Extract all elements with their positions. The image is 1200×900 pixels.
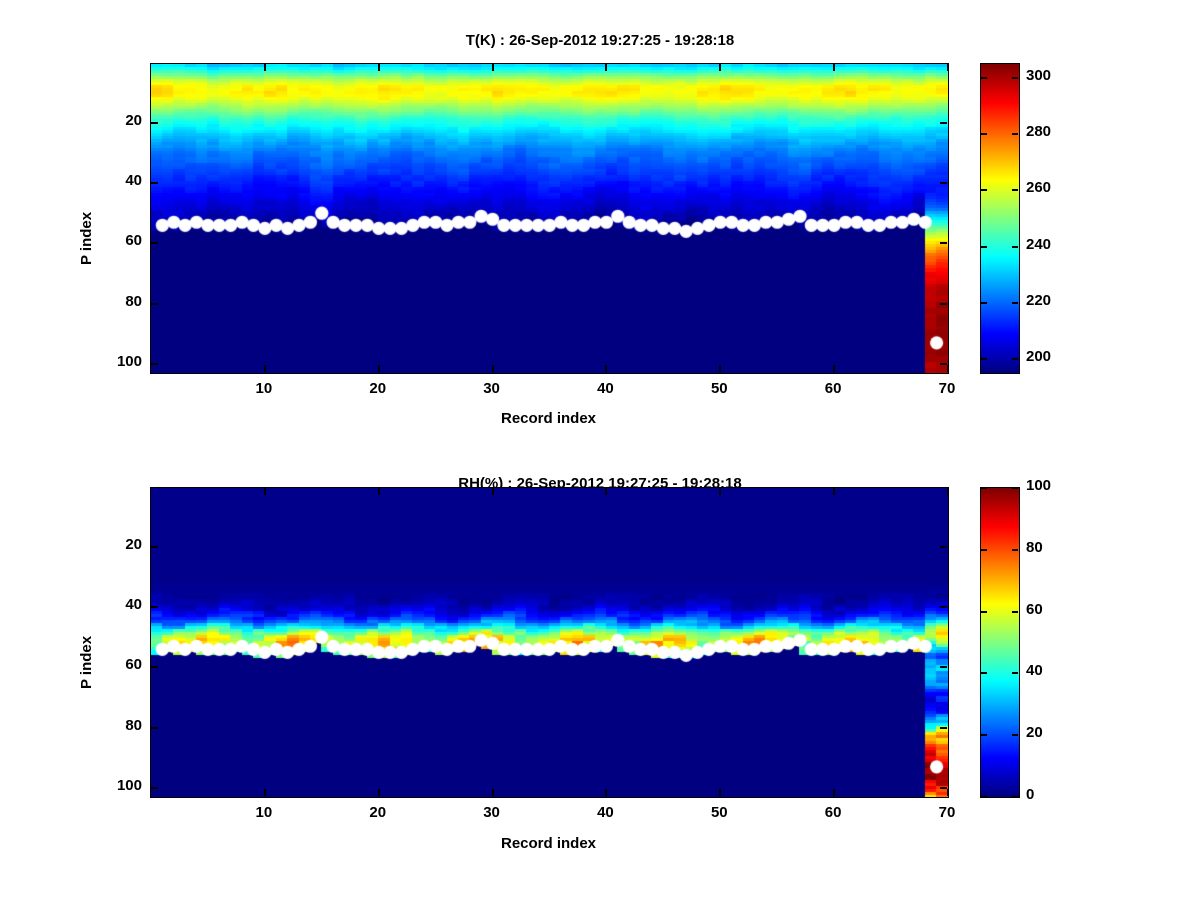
colorbar-tick-mark-right [1012, 358, 1018, 360]
xtick-mark [492, 789, 494, 796]
colorbar-tick-label: 240 [1026, 236, 1051, 253]
xtick-mark-top [492, 64, 494, 71]
colorbar-tick-label: 80 [1026, 539, 1043, 556]
panel-temperature-title: T(K) : 26-Sep-2012 19:27:25 - 19:28:18 [0, 32, 1200, 49]
colorbar-tick-mark-right [1012, 549, 1018, 551]
ytick-mark [151, 182, 158, 184]
xtick-mark-top [833, 64, 835, 71]
xtick-mark-top [719, 64, 721, 71]
xtick-mark [264, 365, 266, 372]
colorbar-tick-label: 260 [1026, 179, 1051, 196]
figure-canvas: T(K) : 26-Sep-2012 19:27:25 - 19:28:18 2… [0, 0, 1200, 900]
colorbar-tick-mark-right [1012, 133, 1018, 135]
xtick-mark [947, 365, 949, 372]
ytick-mark [151, 727, 158, 729]
ytick-mark-right [940, 606, 947, 608]
colorbar-tick-label: 100 [1026, 477, 1051, 494]
ytick-mark [151, 787, 158, 789]
xtick-label: 40 [575, 380, 635, 397]
ytick-mark-right [940, 787, 947, 789]
colorbar-tick-label: 200 [1026, 348, 1051, 365]
colorbar-tick-mark-right [1012, 734, 1018, 736]
ytick-mark-right [940, 666, 947, 668]
humidity-xlabel: Record index [400, 835, 697, 852]
xtick-mark-top [378, 488, 380, 495]
xtick-mark-top [605, 64, 607, 71]
colorbar-tick-label: 0 [1026, 786, 1034, 803]
colorbar-tick-mark-right [1012, 246, 1018, 248]
ytick-mark [151, 122, 158, 124]
xtick-mark-top [833, 488, 835, 495]
ytick-mark [151, 363, 158, 365]
colorbar-tick-mark [981, 77, 987, 79]
xtick-mark-top [378, 64, 380, 71]
xtick-mark-top [719, 488, 721, 495]
ytick-label: 20 [88, 112, 142, 129]
colorbar-tick-label: 60 [1026, 601, 1043, 618]
colorbar-tick-mark-right [1012, 77, 1018, 79]
xtick-label: 30 [462, 804, 522, 821]
xtick-mark [833, 365, 835, 372]
ytick-label: 80 [88, 717, 142, 734]
colorbar-tick-mark-right [1012, 796, 1018, 798]
humidity-heatmap-axes [150, 487, 949, 798]
xtick-mark [492, 365, 494, 372]
colorbar-tick-mark-right [1012, 672, 1018, 674]
temperature-xlabel: Record index [400, 410, 697, 427]
xtick-label: 60 [803, 804, 863, 821]
temperature-colorbar-gradient [981, 64, 1019, 373]
temperature-ylabel: P index [78, 212, 95, 265]
xtick-mark [605, 365, 607, 372]
colorbar-tick-mark [981, 549, 987, 551]
colorbar-tick-mark-right [1012, 302, 1018, 304]
ytick-mark [151, 606, 158, 608]
ytick-mark-right [940, 182, 947, 184]
xtick-label: 40 [575, 804, 635, 821]
panel-humidity: RH(%) : 26-Sep-2012 19:27:25 - 19:28:18 … [0, 450, 1200, 900]
colorbar-tick-mark [981, 487, 987, 489]
colorbar-tick-mark-right [1012, 189, 1018, 191]
xtick-label: 70 [917, 380, 977, 397]
xtick-label: 50 [689, 380, 749, 397]
colorbar-tick-mark [981, 611, 987, 613]
humidity-surface-markers [151, 488, 948, 797]
colorbar-tick-mark [981, 734, 987, 736]
xtick-mark [833, 789, 835, 796]
ytick-label: 80 [88, 293, 142, 310]
xtick-mark [719, 789, 721, 796]
humidity-ylabel: P index [78, 636, 95, 689]
ytick-mark-right [940, 546, 947, 548]
ytick-mark-right [940, 363, 947, 365]
xtick-mark [264, 789, 266, 796]
ytick-label: 20 [88, 536, 142, 553]
colorbar-tick-mark [981, 246, 987, 248]
ytick-mark-right [940, 122, 947, 124]
ytick-mark [151, 242, 158, 244]
xtick-mark-top [947, 488, 949, 495]
colorbar-tick-mark [981, 358, 987, 360]
colorbar-tick-mark [981, 302, 987, 304]
xtick-mark [605, 789, 607, 796]
colorbar-tick-mark-right [1012, 611, 1018, 613]
xtick-label: 10 [234, 380, 294, 397]
ytick-mark-right [940, 242, 947, 244]
colorbar-tick-mark [981, 133, 987, 135]
ytick-mark [151, 303, 158, 305]
temperature-surface-markers [151, 64, 948, 373]
colorbar-tick-mark-right [1012, 487, 1018, 489]
xtick-mark [947, 789, 949, 796]
xtick-label: 10 [234, 804, 294, 821]
xtick-mark-top [264, 64, 266, 71]
panel-temperature: T(K) : 26-Sep-2012 19:27:25 - 19:28:18 2… [0, 0, 1200, 450]
xtick-label: 70 [917, 804, 977, 821]
colorbar-tick-label: 20 [1026, 724, 1043, 741]
xtick-mark [378, 365, 380, 372]
colorbar-tick-label: 300 [1026, 67, 1051, 84]
ytick-label: 60 [88, 656, 142, 673]
xtick-label: 20 [348, 804, 408, 821]
colorbar-tick-label: 40 [1026, 662, 1043, 679]
xtick-label: 30 [462, 380, 522, 397]
xtick-label: 60 [803, 380, 863, 397]
ytick-label: 40 [88, 596, 142, 613]
xtick-mark [719, 365, 721, 372]
xtick-label: 50 [689, 804, 749, 821]
xtick-mark-top [605, 488, 607, 495]
humidity-colorbar-gradient [981, 488, 1019, 797]
colorbar-tick-label: 220 [1026, 292, 1051, 309]
ytick-mark [151, 666, 158, 668]
colorbar-tick-mark [981, 796, 987, 798]
ytick-mark [151, 546, 158, 548]
xtick-mark [378, 789, 380, 796]
colorbar-tick-mark [981, 189, 987, 191]
ytick-label: 100 [88, 777, 142, 794]
ytick-label: 100 [88, 353, 142, 370]
xtick-mark-top [492, 488, 494, 495]
xtick-mark-top [264, 488, 266, 495]
temperature-heatmap-axes [150, 63, 949, 374]
ytick-label: 60 [88, 232, 142, 249]
xtick-mark-top [947, 64, 949, 71]
xtick-label: 20 [348, 380, 408, 397]
colorbar-tick-label: 280 [1026, 123, 1051, 140]
ytick-mark-right [940, 727, 947, 729]
humidity-colorbar [980, 487, 1020, 798]
ytick-mark-right [940, 303, 947, 305]
colorbar-tick-mark [981, 672, 987, 674]
temperature-colorbar [980, 63, 1020, 374]
ytick-label: 40 [88, 172, 142, 189]
